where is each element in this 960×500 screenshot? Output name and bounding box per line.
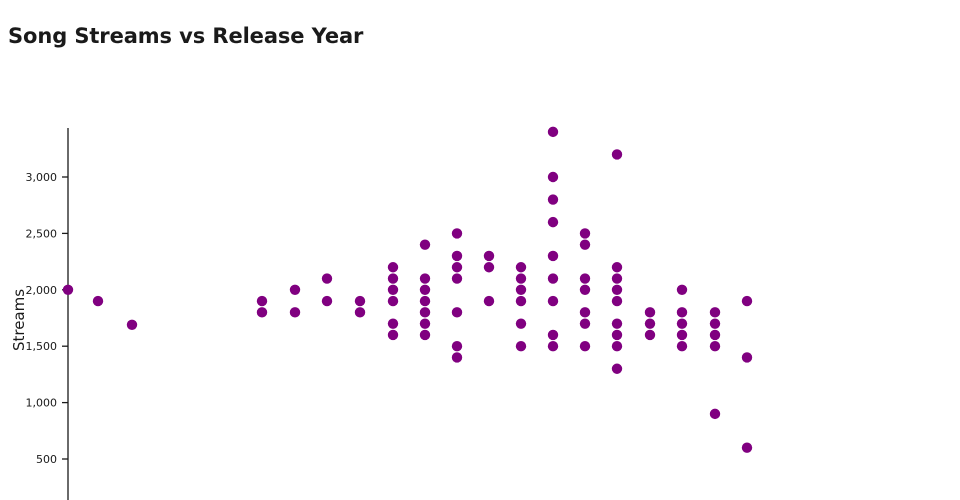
data-point[interactable] (484, 251, 494, 261)
data-point[interactable] (548, 172, 558, 182)
data-point[interactable] (516, 318, 526, 328)
data-point[interactable] (452, 307, 462, 317)
data-point[interactable] (612, 285, 622, 295)
data-point[interactable] (548, 127, 558, 137)
data-point[interactable] (612, 273, 622, 283)
data-point[interactable] (420, 296, 430, 306)
data-point[interactable] (612, 296, 622, 306)
data-point[interactable] (420, 239, 430, 249)
data-point[interactable] (710, 341, 720, 351)
y-axis-label: Streams (10, 289, 28, 351)
y-axis-tick-label: 3,000 (26, 171, 58, 184)
data-point[interactable] (645, 330, 655, 340)
data-point[interactable] (420, 285, 430, 295)
data-point[interactable] (452, 262, 462, 272)
data-point[interactable] (612, 364, 622, 374)
data-point[interactable] (612, 149, 622, 159)
data-point[interactable] (322, 296, 332, 306)
data-point[interactable] (127, 320, 137, 330)
plot-area: 5001,0001,5002,0002,5003,000 Streams (0, 0, 960, 500)
data-point[interactable] (257, 307, 267, 317)
data-point[interactable] (388, 330, 398, 340)
y-axis: 5001,0001,5002,0002,5003,000 (26, 128, 69, 500)
data-point[interactable] (257, 296, 267, 306)
data-point[interactable] (516, 262, 526, 272)
data-point[interactable] (742, 443, 752, 453)
data-point[interactable] (388, 318, 398, 328)
data-point[interactable] (322, 273, 332, 283)
data-point[interactable] (93, 296, 103, 306)
data-point[interactable] (612, 318, 622, 328)
data-point[interactable] (355, 307, 365, 317)
data-point[interactable] (548, 296, 558, 306)
data-point[interactable] (548, 273, 558, 283)
data-point[interactable] (452, 341, 462, 351)
data-point[interactable] (580, 341, 590, 351)
data-point[interactable] (452, 273, 462, 283)
data-point[interactable] (677, 341, 687, 351)
data-point[interactable] (452, 228, 462, 238)
data-point[interactable] (710, 330, 720, 340)
data-point[interactable] (388, 262, 398, 272)
data-point[interactable] (710, 318, 720, 328)
data-point[interactable] (452, 352, 462, 362)
data-point[interactable] (548, 341, 558, 351)
data-point[interactable] (677, 307, 687, 317)
data-point[interactable] (355, 296, 365, 306)
data-point[interactable] (677, 318, 687, 328)
data-point[interactable] (516, 296, 526, 306)
data-point[interactable] (710, 307, 720, 317)
data-point[interactable] (580, 228, 590, 238)
data-point[interactable] (612, 341, 622, 351)
data-point[interactable] (420, 273, 430, 283)
y-axis-tick-label: 2,000 (26, 284, 58, 297)
data-point[interactable] (484, 296, 494, 306)
data-point[interactable] (388, 273, 398, 283)
data-point[interactable] (612, 262, 622, 272)
data-point[interactable] (63, 285, 73, 295)
data-point[interactable] (677, 330, 687, 340)
data-point[interactable] (484, 262, 494, 272)
data-point[interactable] (516, 273, 526, 283)
data-point[interactable] (420, 330, 430, 340)
data-point[interactable] (516, 285, 526, 295)
data-point[interactable] (290, 285, 300, 295)
y-axis-tick-label: 1,000 (26, 397, 58, 410)
data-point[interactable] (580, 307, 590, 317)
data-points-group (63, 127, 752, 453)
data-point[interactable] (580, 318, 590, 328)
data-point[interactable] (645, 307, 655, 317)
data-point[interactable] (580, 239, 590, 249)
data-point[interactable] (388, 296, 398, 306)
y-axis-tick-label: 2,500 (26, 227, 58, 240)
data-point[interactable] (516, 341, 526, 351)
data-point[interactable] (548, 251, 558, 261)
data-point[interactable] (420, 307, 430, 317)
data-point[interactable] (742, 296, 752, 306)
y-axis-tick-label: 1,500 (26, 340, 58, 353)
scatter-chart: Song Streams vs Release Year 5001,0001,5… (0, 0, 960, 500)
data-point[interactable] (548, 194, 558, 204)
data-point[interactable] (612, 330, 622, 340)
data-point[interactable] (452, 251, 462, 261)
data-point[interactable] (548, 330, 558, 340)
data-point[interactable] (388, 285, 398, 295)
data-point[interactable] (548, 217, 558, 227)
data-point[interactable] (290, 307, 300, 317)
data-point[interactable] (742, 352, 752, 362)
data-point[interactable] (580, 285, 590, 295)
y-axis-tick-label: 500 (36, 453, 57, 466)
data-point[interactable] (645, 318, 655, 328)
data-point[interactable] (677, 285, 687, 295)
data-point[interactable] (580, 273, 590, 283)
data-point[interactable] (420, 318, 430, 328)
data-point[interactable] (710, 409, 720, 419)
